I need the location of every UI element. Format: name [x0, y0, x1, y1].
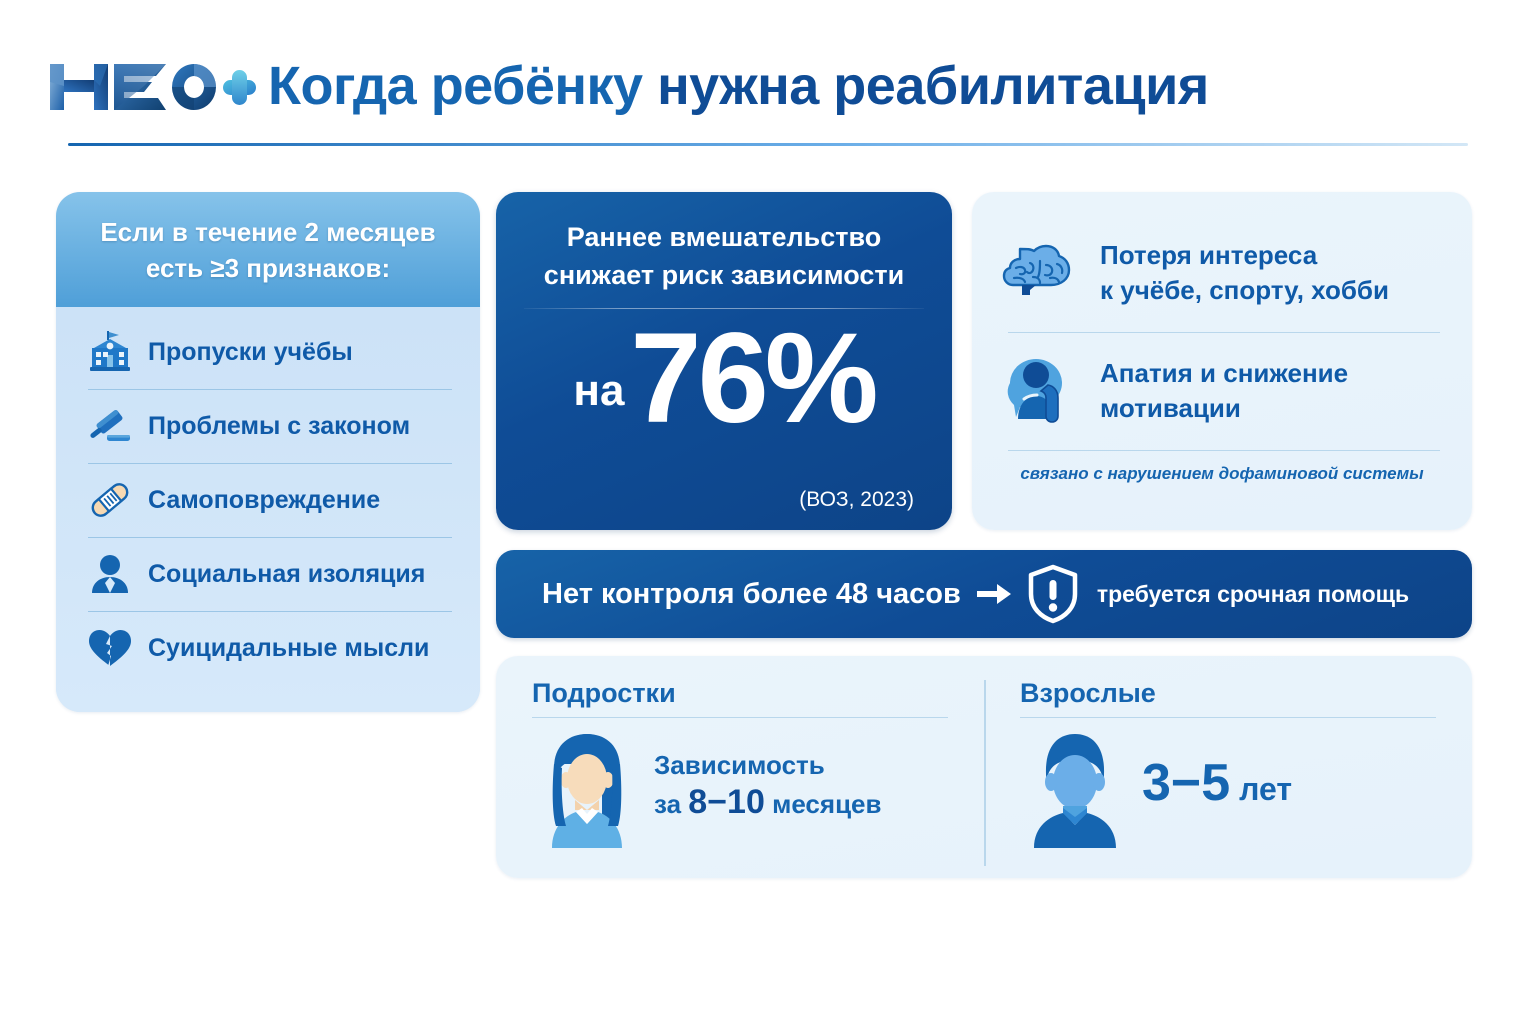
teen-duration-value: 8−10: [688, 783, 765, 821]
warning-signs-list: Пропуски учёбы Проблемы с законом: [56, 307, 480, 712]
symptom-row-loss-of-interest[interactable]: Потеря интереса к учёбе, спорту, хобби: [1000, 214, 1444, 332]
stat-prefix: на: [573, 369, 624, 413]
comparison-text-adults: 3−5 лет: [1142, 754, 1292, 818]
list-item[interactable]: Социальная изоляция: [56, 537, 480, 611]
list-item[interactable]: Пропуски учёбы: [56, 315, 480, 389]
symptoms-footnote-wrap: связано с нарушением дофаминовой системы: [1000, 450, 1444, 484]
comparison-text-teens: Зависимость за 8−10 месяцев: [654, 748, 882, 824]
neo-plus-logo: [48, 56, 258, 118]
stat-card-title-line1: Раннее вмешательство: [522, 218, 926, 256]
school-icon: [84, 329, 136, 375]
page-header: Когда ребёнку нужна реабилитация: [0, 0, 1536, 160]
comparison-column-teens: Подростки Зависимость за: [496, 678, 984, 878]
comparison-body-adults: 3−5 лет: [1020, 724, 1436, 848]
teen-duration-suffix: месяцев: [765, 789, 882, 819]
comparison-column-adults: Взрослые 3−5 лет: [984, 678, 1472, 878]
symptom-row-apathy[interactable]: Апатия и снижение мотивации: [1000, 332, 1444, 450]
stat-figure: на 76%: [496, 315, 952, 443]
comparison-divider-teens: [532, 717, 948, 718]
warning-signs-heading: Если в течение 2 месяцев есть ≥3 признак…: [100, 214, 435, 286]
alert-sub-text: требуется срочная помощь: [1097, 581, 1409, 608]
list-item-label: Суицидальные мысли: [148, 634, 429, 663]
age-comparison-card: Подростки Зависимость за: [496, 656, 1472, 878]
warning-signs-heading-line2: есть ≥3 признаков:: [100, 250, 435, 286]
symptom-label-line1: Потеря интереса: [1100, 240, 1317, 270]
teen-dependency-label: Зависимость: [654, 748, 882, 782]
page-title-rest: нужна реабилитация: [643, 56, 1209, 116]
warning-signs-heading-line1: Если в течение 2 месяцев: [100, 214, 435, 250]
teen-duration-prefix: за: [654, 789, 688, 819]
adult-duration-value: 3−5: [1142, 754, 1230, 812]
apathy-person-icon: [1000, 355, 1084, 427]
teen-dependency-duration: за 8−10 месяцев: [654, 782, 882, 824]
symptoms-footnote: связано с нарушением дофаминовой системы: [1000, 464, 1444, 484]
list-item[interactable]: Проблемы с законом: [56, 389, 480, 463]
symptoms-card: Потеря интереса к учёбе, спорту, хобби А…: [972, 192, 1472, 530]
broken-heart-icon: [84, 625, 136, 671]
list-item-label: Проблемы с законом: [148, 412, 410, 441]
stat-card-title-line2: снижает риск зависимости: [522, 256, 926, 294]
alert-main-text: Нет контроля более 48 часов: [542, 578, 961, 611]
person-alone-icon: [84, 551, 136, 597]
stat-value: 76%: [630, 315, 874, 443]
comparison-title-adults: Взрослые: [1020, 678, 1436, 709]
stat-source: (ВОЗ, 2023): [799, 488, 914, 512]
teen-girl-avatar: [532, 724, 642, 848]
symptom-label: Апатия и снижение мотивации: [1100, 356, 1348, 426]
adult-duration-unit: лет: [1230, 771, 1292, 807]
list-item[interactable]: Суицидальные мысли: [56, 611, 480, 685]
bandage-icon: [84, 477, 136, 523]
warning-signs-panel: Если в течение 2 месяцев есть ≥3 признак…: [56, 192, 480, 712]
gavel-icon: [84, 403, 136, 449]
adult-dependency-duration: 3−5 лет: [1142, 754, 1292, 818]
adult-man-avatar: [1020, 724, 1130, 848]
urgent-help-alert-bar[interactable]: Нет контроля более 48 часов требуется ср…: [496, 550, 1472, 638]
symptom-label: Потеря интереса к учёбе, спорту, хобби: [1100, 238, 1389, 308]
stat-card-title: Раннее вмешательство снижает риск зависи…: [522, 218, 926, 294]
list-item-label: Самоповреждение: [148, 486, 380, 515]
arrow-right-icon: [977, 582, 1011, 606]
comparison-divider-adults: [1020, 717, 1436, 718]
list-item-label: Социальная изоляция: [148, 560, 425, 589]
symptom-label-line2: мотивации: [1100, 393, 1241, 423]
brain-icon: [1000, 237, 1084, 309]
shield-exclamation-icon: [1027, 564, 1079, 624]
header-divider: [68, 143, 1468, 146]
symptom-label-line2: к учёбе, спорту, хобби: [1100, 275, 1389, 305]
list-item[interactable]: Самоповреждение: [56, 463, 480, 537]
symptom-label-line1: Апатия и снижение: [1100, 358, 1348, 388]
warning-signs-panel-header: Если в течение 2 месяцев есть ≥3 признак…: [56, 192, 480, 307]
list-item-label: Пропуски учёбы: [148, 338, 353, 367]
comparison-title-teens: Подростки: [532, 678, 948, 709]
comparison-body-teens: Зависимость за 8−10 месяцев: [532, 724, 948, 848]
page-title: Когда ребёнку нужна реабилитация: [268, 54, 1209, 118]
page-title-lead: Когда ребёнку: [268, 56, 643, 116]
early-intervention-stat-card: Раннее вмешательство снижает риск зависи…: [496, 192, 952, 530]
